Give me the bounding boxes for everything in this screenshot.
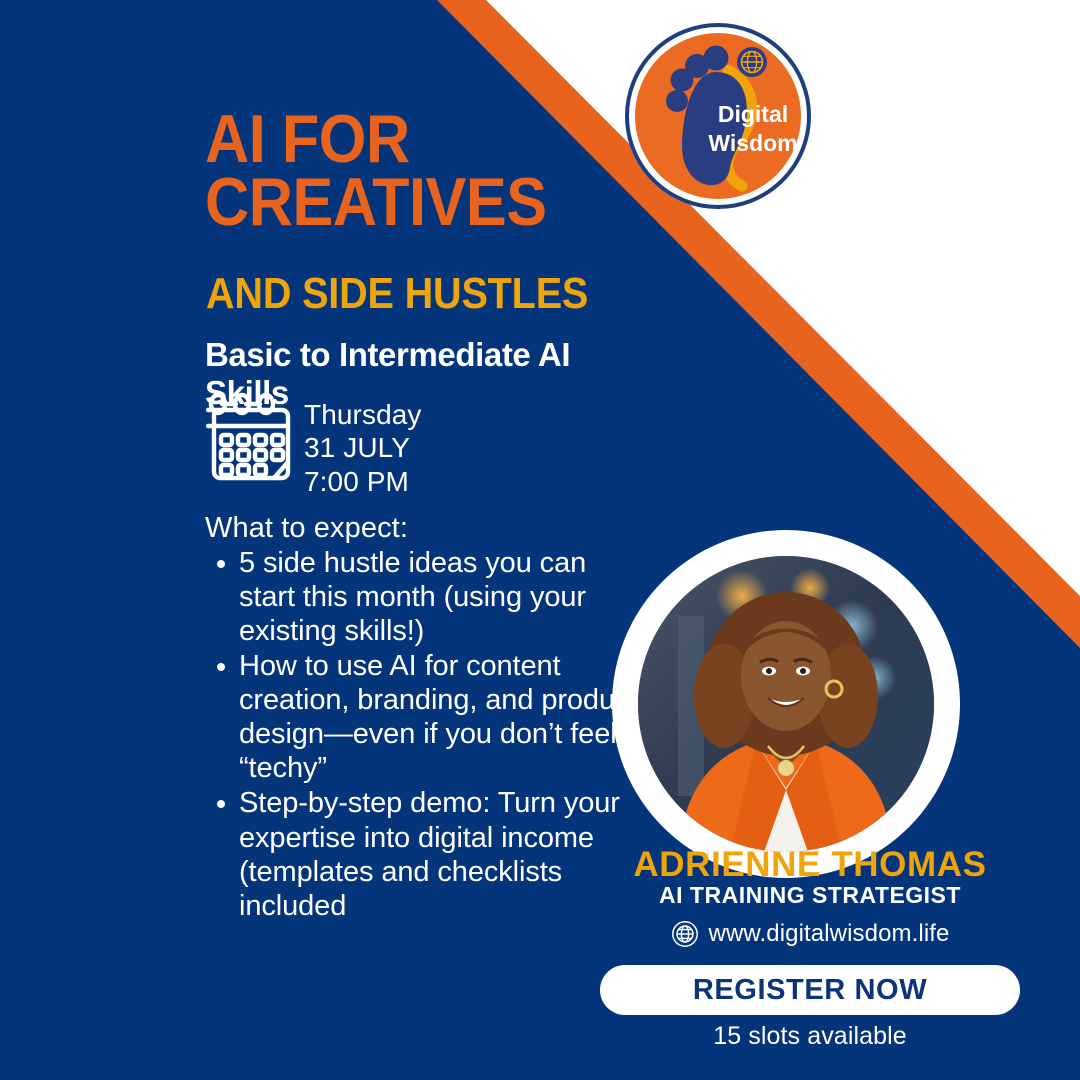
expectations-list: 5 side hustle ideas you can start this m… <box>205 546 639 924</box>
event-date: 31 JULY <box>304 431 422 464</box>
expectations-heading: What to expect: <box>205 512 408 545</box>
left-content-column: AI FOR CREATIVES AND SIDE HUSTLES Basic … <box>0 0 640 1080</box>
list-item: 5 side hustle ideas you can start this m… <box>239 546 639 648</box>
slots-available-note: 15 slots available <box>600 1022 1020 1051</box>
website-row[interactable]: www.digitalwisdom.life <box>600 920 1020 948</box>
speaker-name: ADRIENNE THOMAS <box>600 845 1020 885</box>
page-title: AI FOR CREATIVES <box>205 108 628 233</box>
event-time: 7:00 PM <box>304 465 422 498</box>
globe-icon <box>671 920 699 948</box>
list-item: Step-by-step demo: Turn your expertise i… <box>239 786 639 922</box>
speaker-portrait <box>638 556 934 852</box>
event-date-block: Thursday 31 JULY 7:00 PM <box>198 392 422 498</box>
digital-wisdom-logo: Digital Wisdom <box>620 18 816 214</box>
avatar <box>612 530 960 878</box>
register-now-button[interactable]: REGISTER NOW <box>600 965 1020 1015</box>
logo-text-line1: Digital <box>718 101 788 127</box>
webinar-flyer: Digital Wisdom AI FOR CREATIVES AND SIDE… <box>0 0 1080 1080</box>
list-item: How to use AI for content creation, bran… <box>239 649 639 785</box>
speaker-role: AI TRAINING STRATEGIST <box>600 882 1020 909</box>
logo-text-line2: Wisdom <box>708 130 797 156</box>
website-url: www.digitalwisdom.life <box>709 920 950 948</box>
page-subtitle: AND SIDE HUSTLES <box>206 272 588 316</box>
event-weekday: Thursday <box>304 398 422 431</box>
calendar-icon <box>198 392 292 488</box>
globe-icon <box>737 47 767 77</box>
